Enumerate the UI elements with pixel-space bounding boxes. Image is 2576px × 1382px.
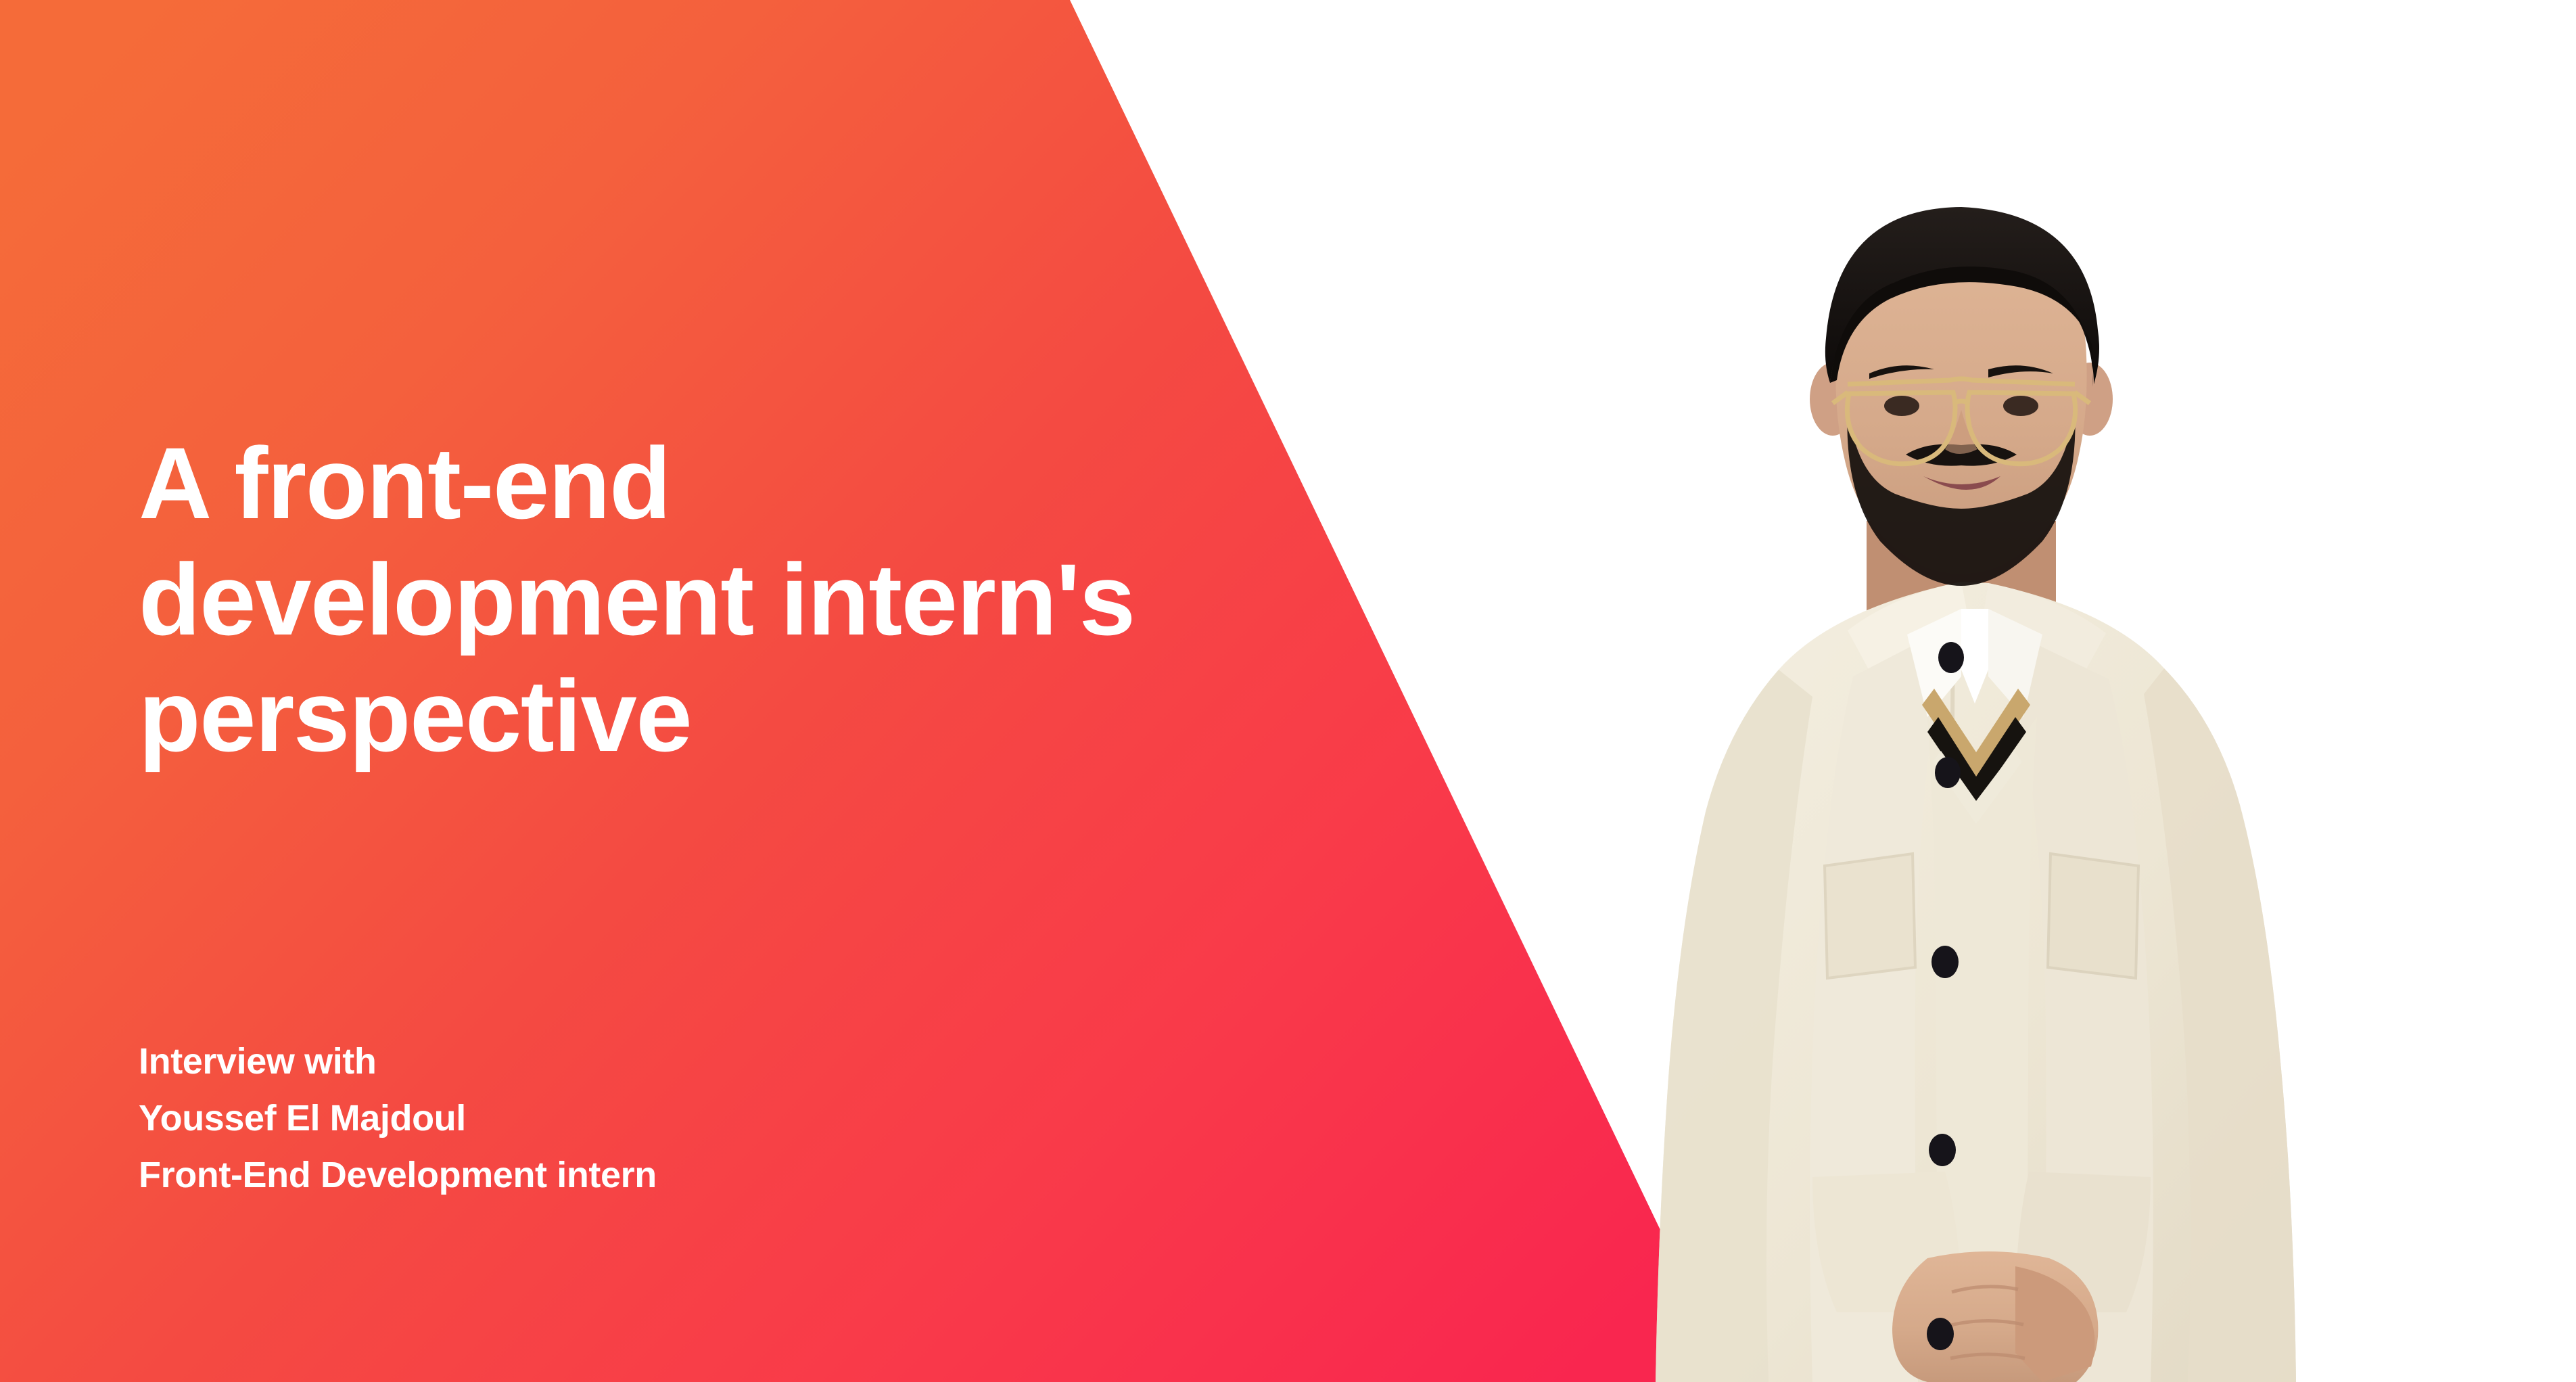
interview-credit: Interview with Youssef El Majdoul Front-… <box>139 1033 1085 1203</box>
portrait-illustration <box>1610 203 2353 1382</box>
credit-line-intro: Interview with <box>139 1033 1085 1090</box>
headline-line-1: A front-end <box>139 425 1248 541</box>
headline-line-3: perspective <box>139 658 1248 774</box>
headline-line-2: development intern's <box>139 541 1248 658</box>
head <box>1810 207 2113 586</box>
credit-line-role: Front-End Development intern <box>139 1147 1085 1203</box>
page-title: A front-end development intern's perspec… <box>139 425 1248 774</box>
portrait-photo <box>1610 203 2353 1382</box>
slide-canvas: A front-end development intern's perspec… <box>0 0 2576 1382</box>
credit-line-name: Youssef El Majdoul <box>139 1090 1085 1147</box>
